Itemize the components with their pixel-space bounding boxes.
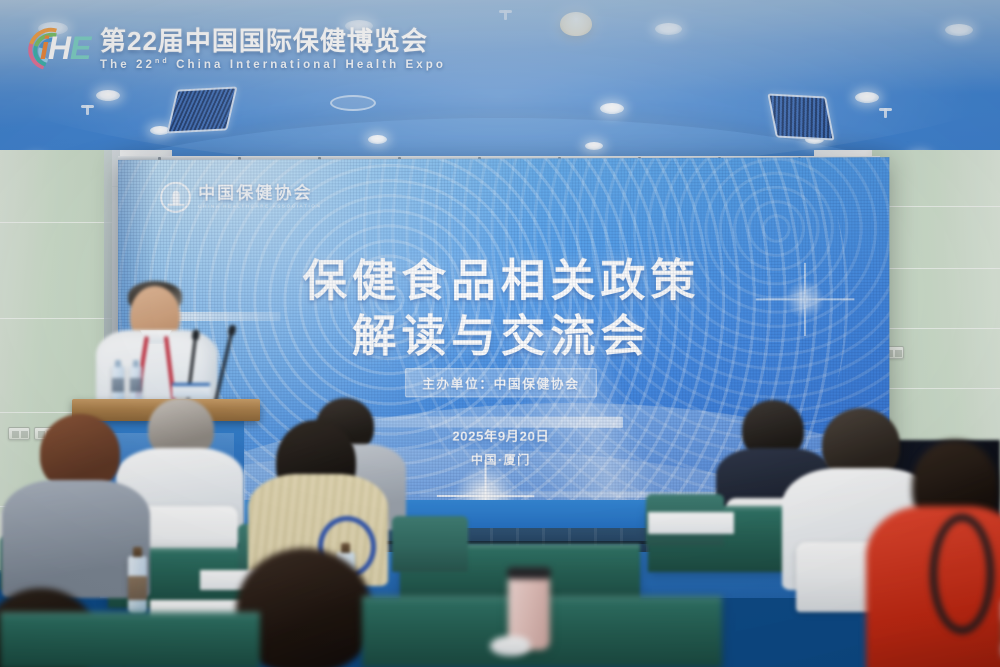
podium-water-bottle	[130, 366, 142, 402]
dome-speaker	[560, 12, 592, 36]
ceiling-ring-vent	[330, 95, 376, 111]
sprinkler-head	[884, 108, 887, 118]
sprinkler-head	[86, 105, 89, 115]
teal-chair	[392, 516, 468, 572]
downlight	[945, 24, 973, 36]
shoulder-bag-strap	[930, 514, 994, 634]
ceiling	[0, 0, 1000, 172]
downlight	[805, 135, 824, 144]
handout-paper	[648, 512, 734, 534]
water-bottle	[128, 556, 147, 614]
podium-water-bottle	[112, 366, 124, 402]
downlight	[38, 22, 68, 35]
downlight	[655, 23, 682, 35]
downlight	[585, 142, 603, 150]
downlight	[368, 135, 387, 144]
air-vent	[166, 86, 237, 133]
conference-photo: 中国保健协会 CHINA HEALTHCARE ASSOCIATION 保健食品…	[0, 0, 1000, 667]
air-vent	[767, 94, 834, 141]
tissue	[490, 636, 530, 656]
podium-name-card	[172, 383, 210, 398]
foreground-table	[0, 612, 260, 667]
downlight	[96, 90, 120, 101]
downlight	[150, 126, 170, 135]
downlight	[600, 103, 624, 114]
sprinkler-head	[504, 10, 507, 20]
wall-outlet	[8, 427, 30, 440]
downlight	[855, 92, 879, 103]
downlight	[345, 20, 373, 32]
